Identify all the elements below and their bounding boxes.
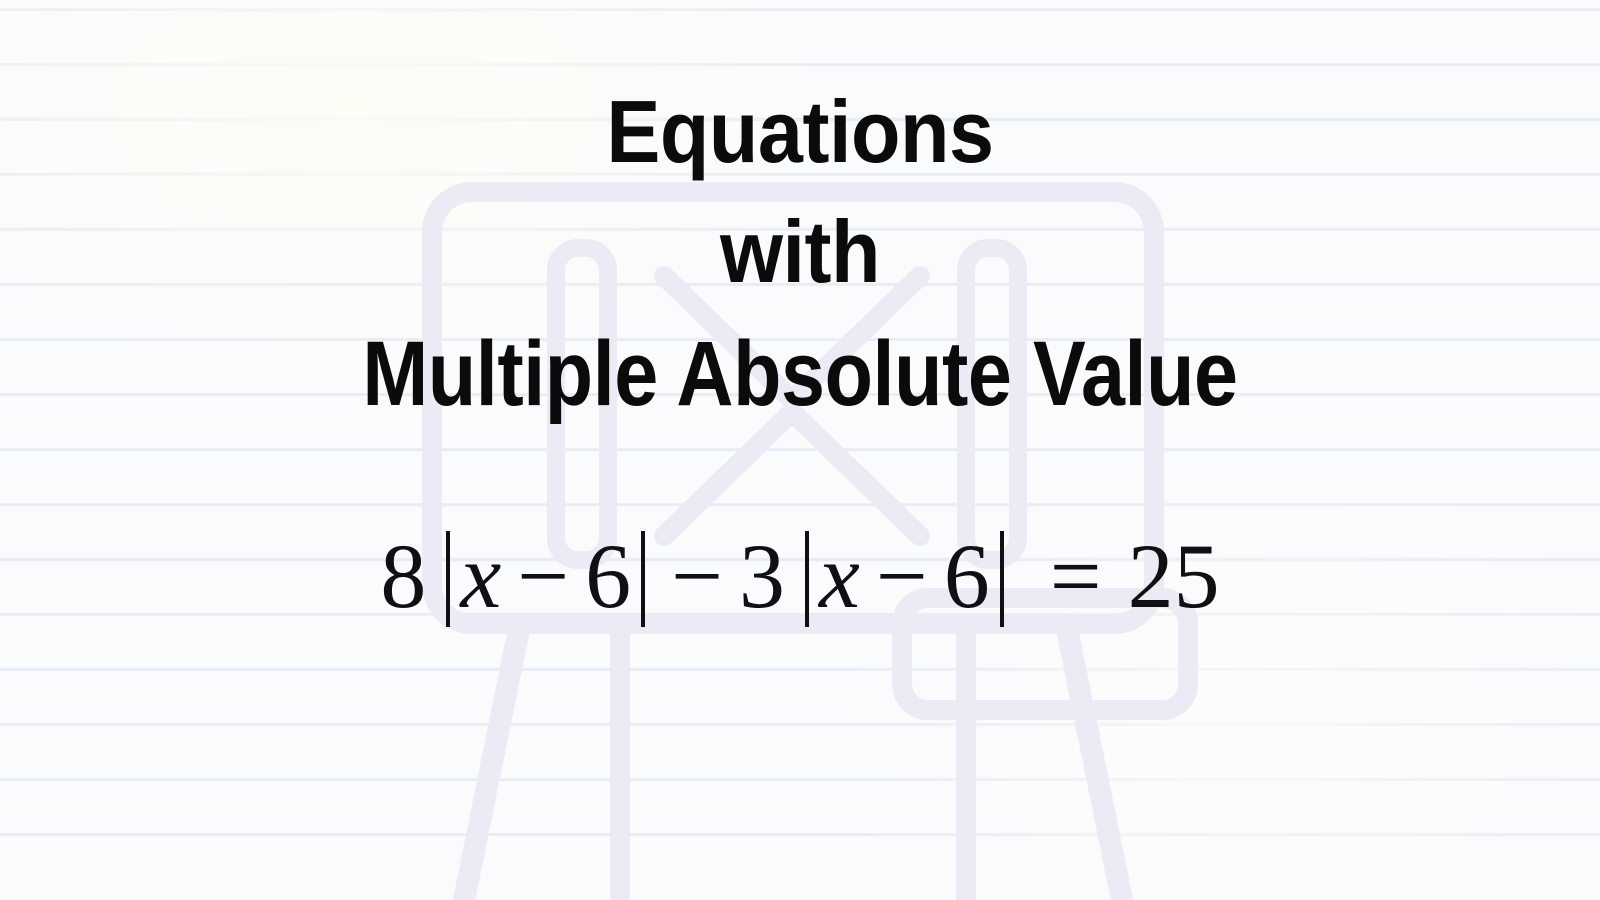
- content-stack: Equations with Multiple Absolute Value 8…: [0, 0, 1600, 900]
- abs-bar-close-2: [1000, 531, 1004, 627]
- equals-sign: =: [1034, 530, 1118, 622]
- absolute-value-equation: 8 x − 6 − 3 x − 6 = 25: [380, 528, 1219, 624]
- variable-2: x: [819, 530, 860, 622]
- abs-bar-open-2: [805, 531, 809, 627]
- abs-bar-close-1: [641, 531, 645, 627]
- constant-1: 6: [585, 530, 631, 622]
- worksheet-canvas: Equations with Multiple Absolute Value 8…: [0, 0, 1600, 900]
- title-line-3: Multiple Absolute Value: [112, 328, 1488, 420]
- title-line-1: Equations: [64, 88, 1536, 176]
- abs-bar-open-1: [446, 531, 450, 627]
- right-hand-side: 25: [1128, 530, 1220, 622]
- coefficient-2: 3: [739, 530, 785, 622]
- coefficient-1: 8: [380, 530, 426, 622]
- minus-sign-2: −: [860, 530, 944, 622]
- variable-1: x: [460, 530, 501, 622]
- minus-sign-1: −: [501, 530, 585, 622]
- equation-block: 8 x − 6 − 3 x − 6 = 25: [0, 528, 1600, 624]
- minus-sign-between: −: [655, 530, 739, 622]
- title-line-2: with: [64, 208, 1536, 296]
- page-title: Equations with Multiple Absolute Value: [0, 88, 1600, 420]
- constant-2: 6: [944, 530, 990, 622]
